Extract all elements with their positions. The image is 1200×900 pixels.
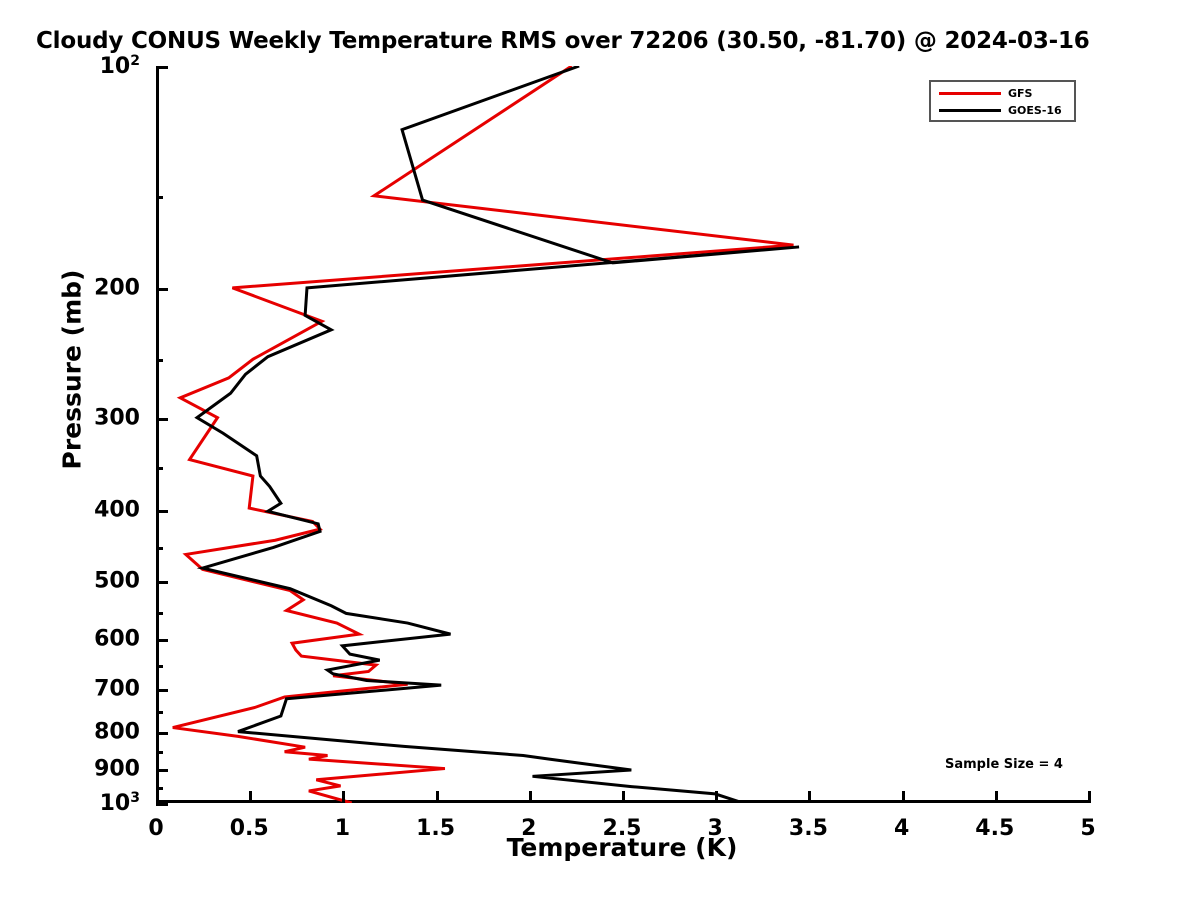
y-minor-tick-2 <box>156 467 163 470</box>
y-minor-tick-1 <box>156 359 163 362</box>
y-tick-6 <box>156 689 168 692</box>
x-tick-label-8: 4 <box>894 816 909 841</box>
data-curves <box>156 66 1088 803</box>
y-minor-tick-8 <box>156 787 163 790</box>
y-tick-label-7: 800 <box>94 719 140 744</box>
x-tick-1 <box>249 791 252 803</box>
legend-label-gfs: GFS <box>1008 87 1032 100</box>
x-tick-8 <box>902 791 905 803</box>
chart-title: Cloudy CONUS Weekly Temperature RMS over… <box>36 28 1200 54</box>
x-tick-label-9: 4.5 <box>975 816 1014 841</box>
legend-swatch-goes16 <box>939 109 1001 112</box>
sample-size-annotation: Sample Size = 4 <box>945 757 1063 772</box>
y-tick-label-2: 300 <box>94 405 140 430</box>
y-tick-label-1: 200 <box>94 275 140 300</box>
y-tick-1 <box>156 288 168 291</box>
x-tick-5 <box>622 791 625 803</box>
x-tick-label-7: 3.5 <box>789 816 828 841</box>
y-tick-7 <box>156 732 168 735</box>
x-tick-label-3: 1.5 <box>416 816 455 841</box>
y-minor-tick-5 <box>156 665 163 668</box>
y-minor-tick-4 <box>156 612 163 615</box>
y-tick-3 <box>156 510 168 513</box>
y-tick-label-6: 700 <box>94 676 140 701</box>
x-tick-2 <box>342 791 345 803</box>
legend-entry-gfs: GFS <box>936 85 1069 102</box>
x-tick-6 <box>715 791 718 803</box>
x-tick-0 <box>156 791 159 803</box>
legend-label-goes16: GOES-16 <box>1008 104 1062 117</box>
y-tick-label-5: 600 <box>94 627 140 652</box>
y-minor-tick-3 <box>156 547 163 550</box>
y-minor-tick-0 <box>156 196 163 199</box>
x-tick-4 <box>529 791 532 803</box>
x-tick-label-0: 0 <box>148 816 163 841</box>
y-tick-label-0: 102 <box>100 53 140 79</box>
x-tick-9 <box>995 791 998 803</box>
plot-area: 00.511.522.533.544.55 102200300400500600… <box>156 66 1088 803</box>
y-tick-5 <box>156 639 168 642</box>
y-tick-9 <box>156 803 168 806</box>
x-tick-label-2: 1 <box>335 816 350 841</box>
chart-legend: GFS GOES-16 <box>929 80 1076 122</box>
chart-figure: Cloudy CONUS Weekly Temperature RMS over… <box>0 0 1200 900</box>
legend-swatch-gfs <box>939 92 1001 95</box>
y-minor-tick-6 <box>156 711 163 714</box>
y-axis-title: Pressure (mb) <box>58 240 87 500</box>
x-tick-label-10: 5 <box>1080 816 1095 841</box>
y-tick-2 <box>156 418 168 421</box>
y-tick-label-9: 103 <box>100 790 140 816</box>
series-line-gfs <box>173 66 794 803</box>
x-tick-3 <box>436 791 439 803</box>
series-line-goes-16 <box>197 66 799 803</box>
y-tick-label-8: 900 <box>94 757 140 782</box>
x-tick-label-6: 3 <box>708 816 723 841</box>
y-tick-label-4: 500 <box>94 569 140 594</box>
y-minor-tick-7 <box>156 751 163 754</box>
y-tick-label-3: 400 <box>94 497 140 522</box>
y-tick-8 <box>156 769 168 772</box>
y-tick-0 <box>156 66 168 69</box>
x-tick-label-4: 2 <box>521 816 536 841</box>
legend-entry-goes16: GOES-16 <box>936 102 1069 119</box>
x-tick-10 <box>1088 791 1091 803</box>
x-tick-label-5: 2.5 <box>603 816 642 841</box>
x-tick-7 <box>808 791 811 803</box>
y-tick-4 <box>156 581 168 584</box>
x-tick-label-1: 0.5 <box>230 816 269 841</box>
